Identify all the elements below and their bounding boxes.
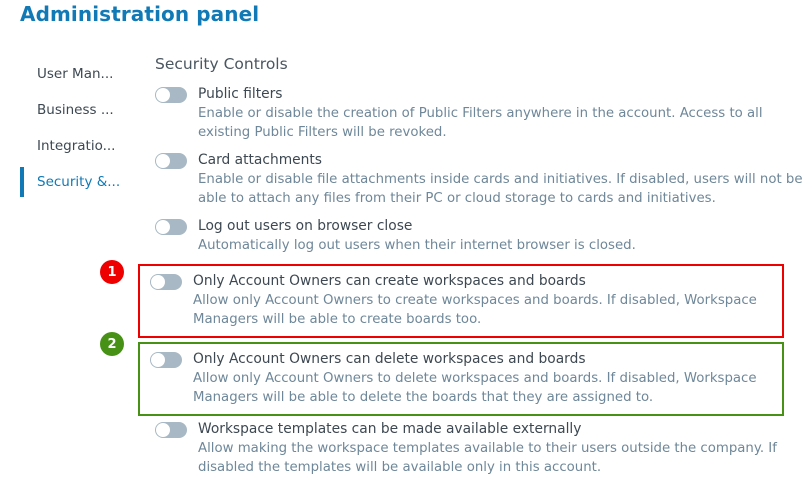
setting-description: Allow only Account Owners to create work…: [193, 291, 774, 329]
callout-badge-1: 1: [100, 260, 124, 284]
toggle-knob: [156, 220, 170, 234]
setting-texts: Workspace templates can be made availabl…: [187, 420, 805, 477]
toggle-knob: [156, 88, 170, 102]
setting-texts: Log out users on browser close Automatic…: [187, 217, 805, 255]
page-title: Administration panel: [20, 2, 259, 26]
sidebar-item-label: User Man...: [37, 66, 113, 82]
toggle-wrap: [155, 420, 187, 442]
toggle-wrap: [150, 272, 182, 294]
setting-title: Public filters: [198, 85, 805, 103]
setting-description: Enable or disable the creation of Public…: [198, 104, 805, 142]
setting-row-workspace-templates-external: Workspace templates can be made availabl…: [155, 420, 805, 477]
toggle-switch-owners-create-workspaces[interactable]: [150, 274, 182, 290]
setting-title: Log out users on browser close: [198, 217, 805, 235]
setting-texts: Card attachments Enable or disable file …: [187, 151, 805, 208]
toggle-knob: [151, 353, 165, 367]
toggle-knob: [151, 275, 165, 289]
highlight-box-delete-workspaces: Only Account Owners can delete workspace…: [138, 342, 784, 416]
setting-title: Workspace templates can be made availabl…: [198, 420, 805, 438]
setting-description: Automatically log out users when their i…: [198, 236, 805, 255]
active-indicator-bar: [20, 167, 24, 197]
setting-texts: Public filters Enable or disable the cre…: [187, 85, 805, 142]
security-controls-panel: Security Controls Public filters Enable …: [155, 55, 805, 486]
setting-description: Allow only Account Owners to delete work…: [193, 369, 774, 407]
setting-row-owners-delete-workspaces: Only Account Owners can delete workspace…: [150, 350, 774, 407]
sidebar-item-integrations[interactable]: Integratio...: [20, 128, 138, 164]
setting-row-card-attachments: Card attachments Enable or disable file …: [155, 151, 805, 208]
sidebar-item-user-management[interactable]: User Man...: [20, 56, 138, 92]
toggle-wrap: [155, 217, 187, 239]
setting-title: Only Account Owners can create workspace…: [193, 272, 774, 290]
sidebar-item-label: Business ...: [37, 102, 114, 118]
toggle-knob: [156, 423, 170, 437]
toggle-knob: [156, 154, 170, 168]
toggle-switch-public-filters[interactable]: [155, 87, 187, 103]
section-title: Security Controls: [155, 55, 805, 73]
setting-description: Allow making the workspace templates ava…: [198, 439, 805, 477]
sidebar-item-security[interactable]: Security &...: [20, 164, 138, 200]
setting-title: Only Account Owners can delete workspace…: [193, 350, 774, 368]
setting-title: Card attachments: [198, 151, 805, 169]
callout-badge-2: 2: [100, 332, 124, 356]
setting-row-owners-create-workspaces: Only Account Owners can create workspace…: [150, 272, 774, 329]
setting-description: Enable or disable file attachments insid…: [198, 170, 805, 208]
toggle-switch-logout-on-browser-close[interactable]: [155, 219, 187, 235]
sidebar-item-label: Integratio...: [37, 138, 115, 154]
setting-row-public-filters: Public filters Enable or disable the cre…: [155, 85, 805, 142]
toggle-switch-owners-delete-workspaces[interactable]: [150, 352, 182, 368]
toggle-wrap: [155, 85, 187, 107]
setting-texts: Only Account Owners can delete workspace…: [182, 350, 774, 407]
toggle-wrap: [150, 350, 182, 372]
toggle-switch-card-attachments[interactable]: [155, 153, 187, 169]
highlight-box-create-workspaces: Only Account Owners can create workspace…: [138, 264, 784, 338]
sidebar-item-label: Security &...: [37, 174, 120, 190]
sidebar-nav: User Man... Business ... Integratio... S…: [20, 56, 138, 200]
toggle-wrap: [155, 151, 187, 173]
sidebar-item-business[interactable]: Business ...: [20, 92, 138, 128]
setting-texts: Only Account Owners can create workspace…: [182, 272, 774, 329]
setting-row-logout-on-browser-close: Log out users on browser close Automatic…: [155, 217, 805, 255]
toggle-switch-workspace-templates-external[interactable]: [155, 422, 187, 438]
